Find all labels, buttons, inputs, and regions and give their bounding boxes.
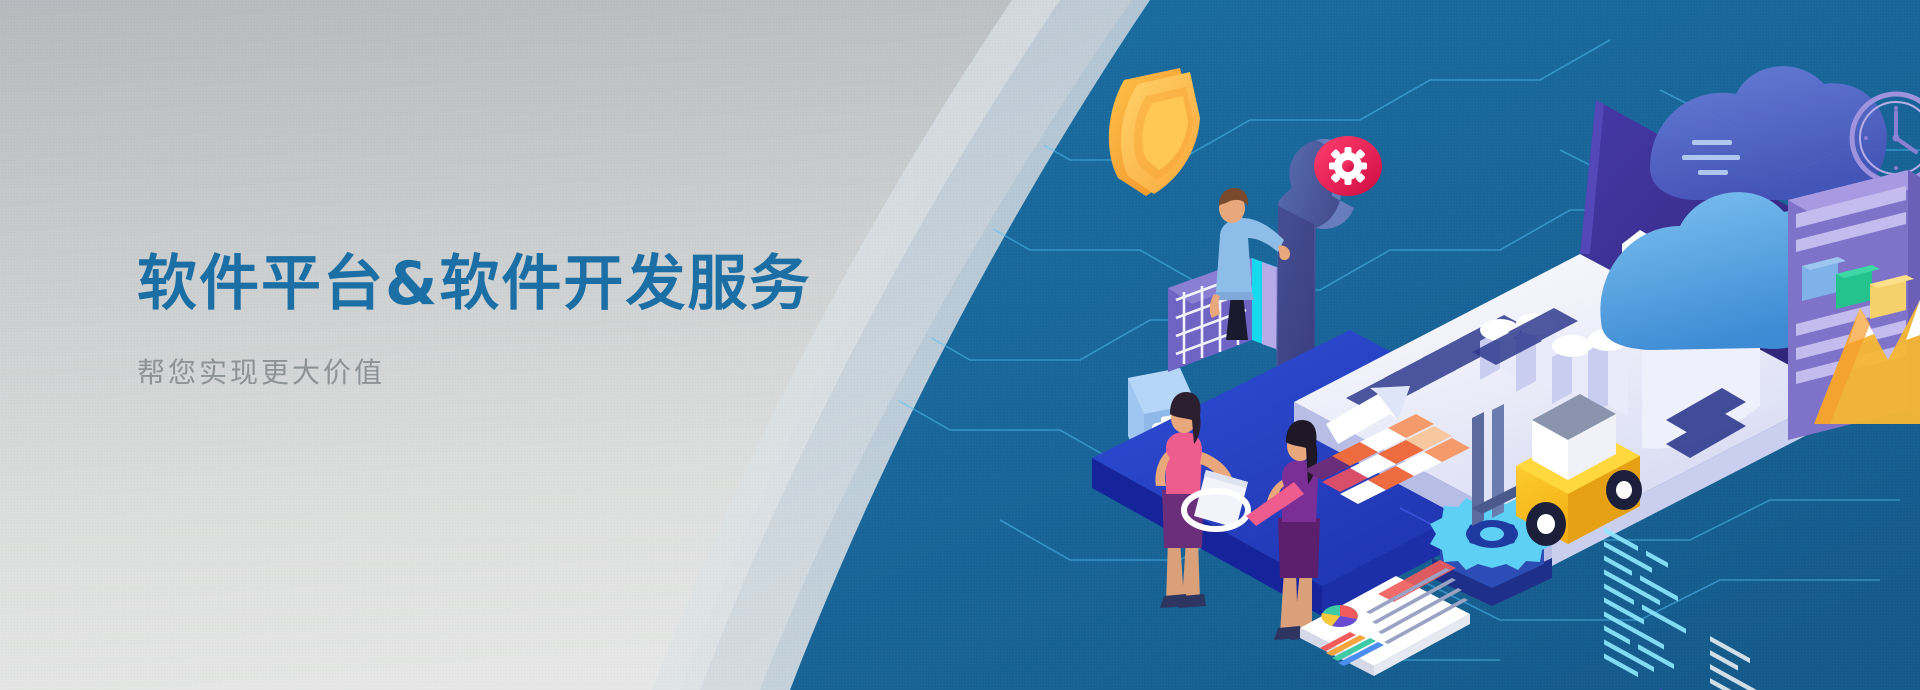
page-subtitle: 帮您实现更大价值 [137,355,811,391]
shield-icon [1109,68,1200,196]
isometric-illustration [880,0,1920,690]
hero-banner: 软件平台&软件开发服务 帮您实现更大价值 [0,0,1920,690]
code-lines [1604,527,1762,690]
banner-text-block: 软件平台&软件开发服务 帮您实现更大价值 [137,250,811,391]
dashboard-panel [1788,170,1920,440]
gear-badge-icon [1314,136,1382,196]
page-title: 软件平台&软件开发服务 [137,250,811,319]
